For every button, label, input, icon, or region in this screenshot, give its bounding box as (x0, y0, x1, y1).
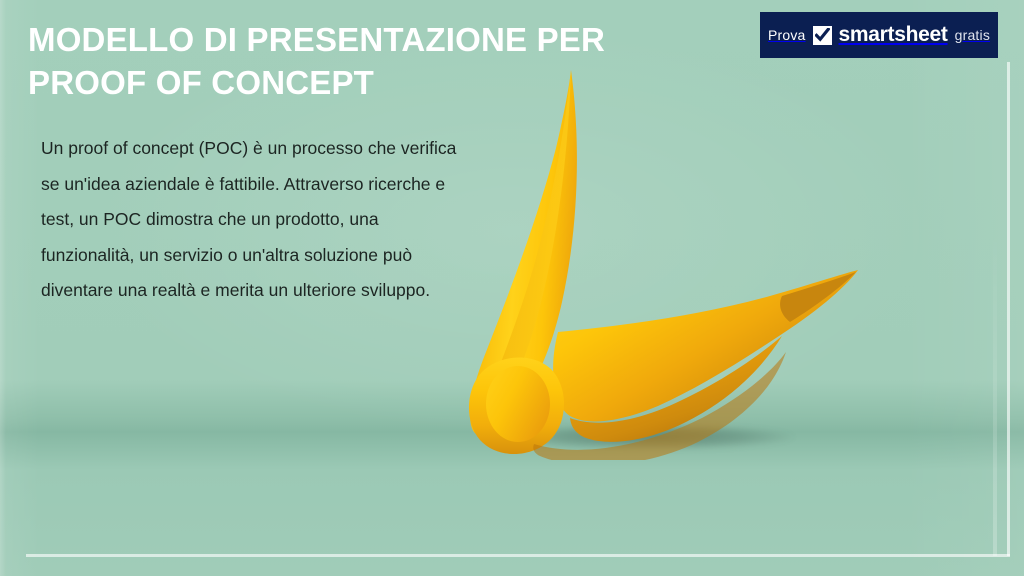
smartsheet-cta-badge[interactable]: Prova smartsheet gratis (760, 12, 998, 58)
presentation-slide: MODELLO DI PRESENTAZIONE PER PROOF OF CO… (0, 0, 1024, 576)
ribbon-right-tip (780, 272, 856, 322)
frame-line-horizontal (26, 554, 1010, 557)
badge-brand-label: smartsheet (839, 23, 948, 47)
frame-line-vertical (1007, 62, 1010, 556)
page-title: MODELLO DI PRESENTAZIONE PER PROOF OF CO… (28, 18, 648, 104)
ribbon-roll-cap (486, 366, 550, 442)
left-edge-highlight (0, 0, 6, 576)
badge-prefix-label: Prova (768, 27, 806, 43)
body-paragraph: Un proof of concept (POC) è un processo … (41, 131, 461, 309)
checkbox-check-icon (813, 26, 832, 45)
badge-suffix-label: gratis (955, 27, 990, 43)
frame-line-vertical-soft (993, 232, 997, 556)
